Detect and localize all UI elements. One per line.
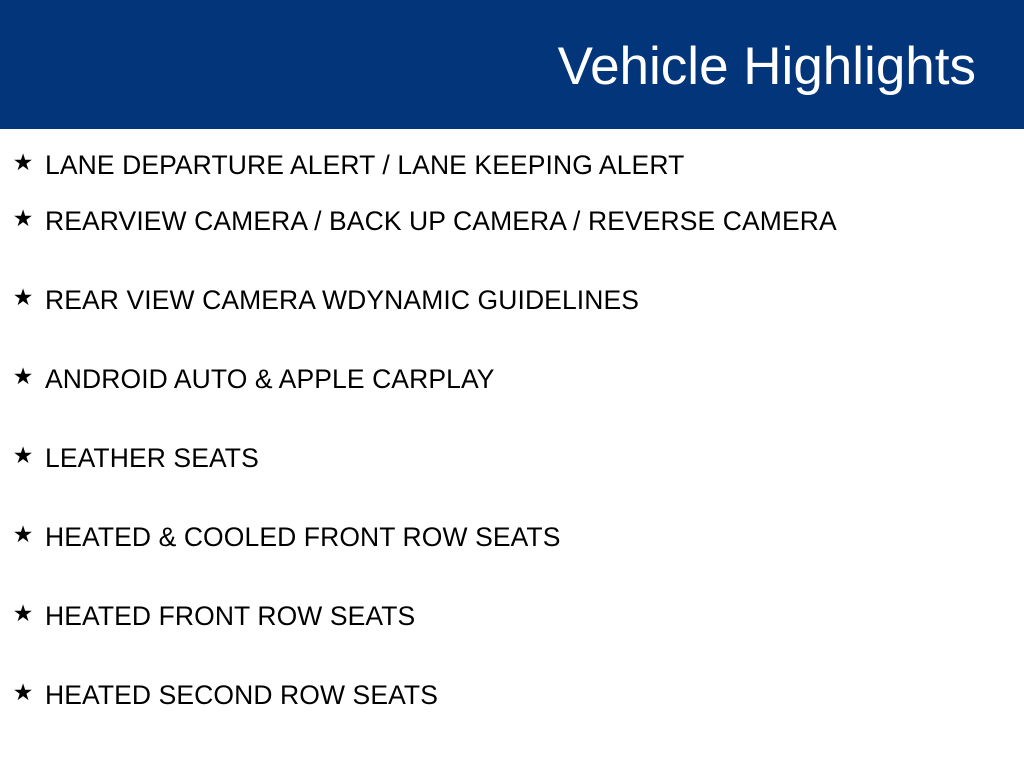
list-item: ★ LEATHER SEATS: [0, 445, 1024, 524]
star-bullet-icon: ★: [11, 208, 35, 231]
star-bullet-icon: ★: [11, 366, 35, 389]
list-item: ★ ANDROID AUTO & APPLE CARPLAY: [0, 366, 1024, 445]
list-item-label: ANDROID AUTO & APPLE CARPLAY: [45, 366, 495, 393]
list-item: ★ HEATED FRONT ROW SEATS: [0, 603, 1024, 682]
star-bullet-icon: ★: [11, 287, 35, 310]
list-item-label: LEATHER SEATS: [45, 445, 259, 472]
header-banner: Vehicle Highlights: [0, 0, 1024, 129]
list-item-label: REAR VIEW CAMERA WDYNAMIC GUIDELINES: [45, 287, 639, 314]
vehicle-highlights-slide: Vehicle Highlights ★ LANE DEPARTURE ALER…: [0, 0, 1024, 768]
star-bullet-icon: ★: [11, 603, 35, 626]
vehicle-highlights-list: ★ LANE DEPARTURE ALERT / LANE KEEPING AL…: [0, 129, 1024, 768]
list-item: ★ REAR VIEW CAMERA WDYNAMIC GUIDELINES: [0, 287, 1024, 366]
list-item-label: HEATED SECOND ROW SEATS: [45, 682, 438, 709]
list-item: ★ HEATED SECOND ROW SEATS: [0, 682, 1024, 761]
list-item-label: HEATED & COOLED FRONT ROW SEATS: [45, 524, 561, 551]
star-bullet-icon: ★: [11, 682, 35, 705]
list-item-label: LANE DEPARTURE ALERT / LANE KEEPING ALER…: [45, 152, 684, 179]
list-item: ★ REARVIEW CAMERA / BACK UP CAMERA / REV…: [0, 208, 1024, 287]
star-bullet-icon: ★: [11, 445, 35, 468]
star-bullet-icon: ★: [11, 524, 35, 547]
star-bullet-icon: ★: [11, 152, 35, 175]
list-item: ★ HEATED & COOLED FRONT ROW SEATS: [0, 524, 1024, 603]
list-item-label: HEATED FRONT ROW SEATS: [45, 603, 415, 630]
list-item: ★ LANE DEPARTURE ALERT / LANE KEEPING AL…: [0, 129, 1024, 208]
list-item-label: REARVIEW CAMERA / BACK UP CAMERA / REVER…: [45, 208, 837, 235]
page-title: Vehicle Highlights: [558, 40, 976, 93]
